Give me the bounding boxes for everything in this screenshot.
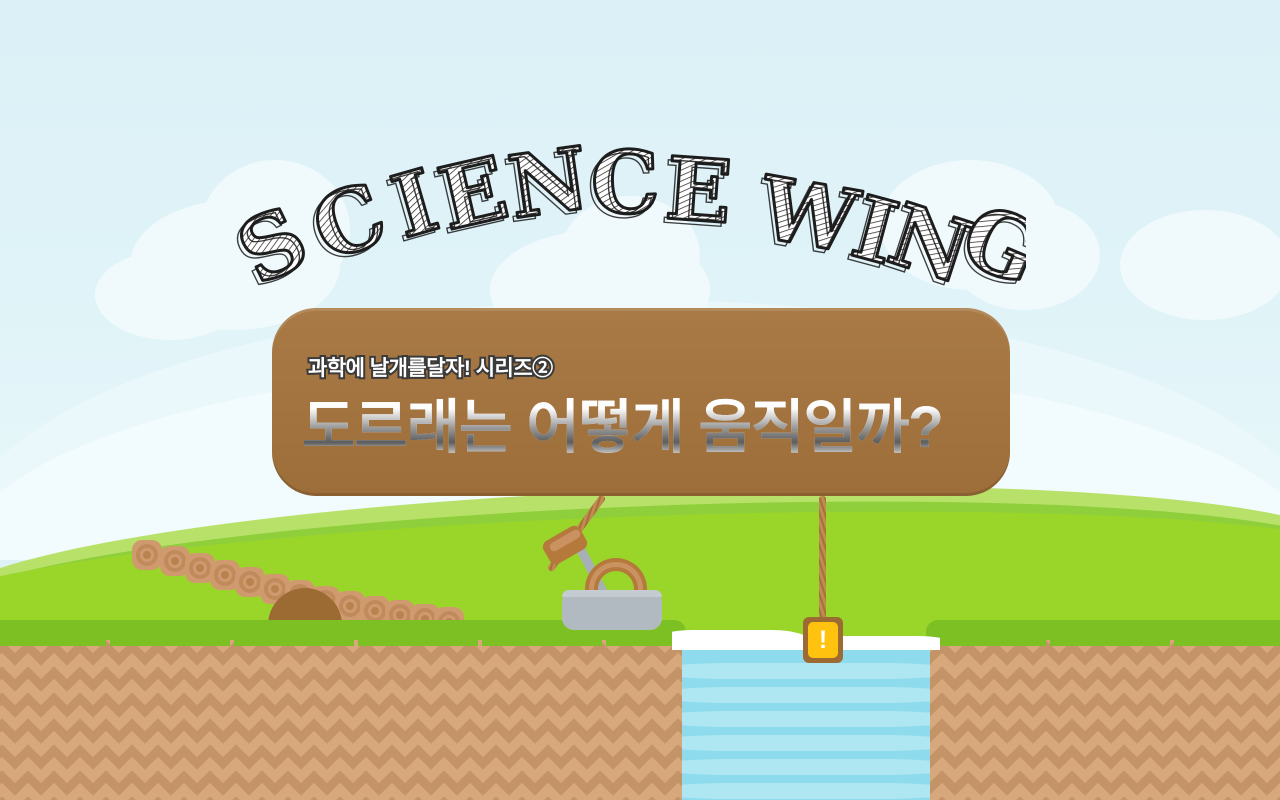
rope-to-weight — [819, 496, 826, 622]
pulley-crank-machine[interactable] — [540, 528, 670, 632]
ground-layer — [0, 620, 1280, 800]
soil-body — [0, 640, 686, 800]
exclamation-icon: ! — [808, 624, 838, 656]
poster-stage: S C I E N C E W I N G S C I E N C E — [0, 0, 1280, 800]
soil-block-right — [926, 620, 1280, 800]
warning-weight[interactable]: ! — [803, 617, 843, 663]
soil-block-left — [0, 620, 686, 800]
water-well — [682, 641, 930, 800]
headline-box: 과학에 날개를달자! 시리즈② 도르래는 어떻게 움직일까? 도르래는 어떻게 … — [272, 308, 1010, 496]
machine-base-highlight — [562, 590, 662, 597]
svg-text:C: C — [585, 136, 657, 239]
series-subtitle: 과학에 날개를달자! 시리즈② — [308, 352, 553, 382]
page-title: 도르래는 어떻게 움직일까? — [302, 380, 943, 464]
svg-text:E: E — [659, 142, 731, 247]
svg-text:N: N — [499, 132, 591, 243]
weight-face: ! — [808, 622, 838, 658]
soil-body — [926, 640, 1280, 800]
cloud-icon — [95, 250, 245, 340]
cloud-icon — [1120, 210, 1280, 320]
science-wing-logo: S C I E N C E W I N G S C I E N C E — [236, 126, 1026, 316]
